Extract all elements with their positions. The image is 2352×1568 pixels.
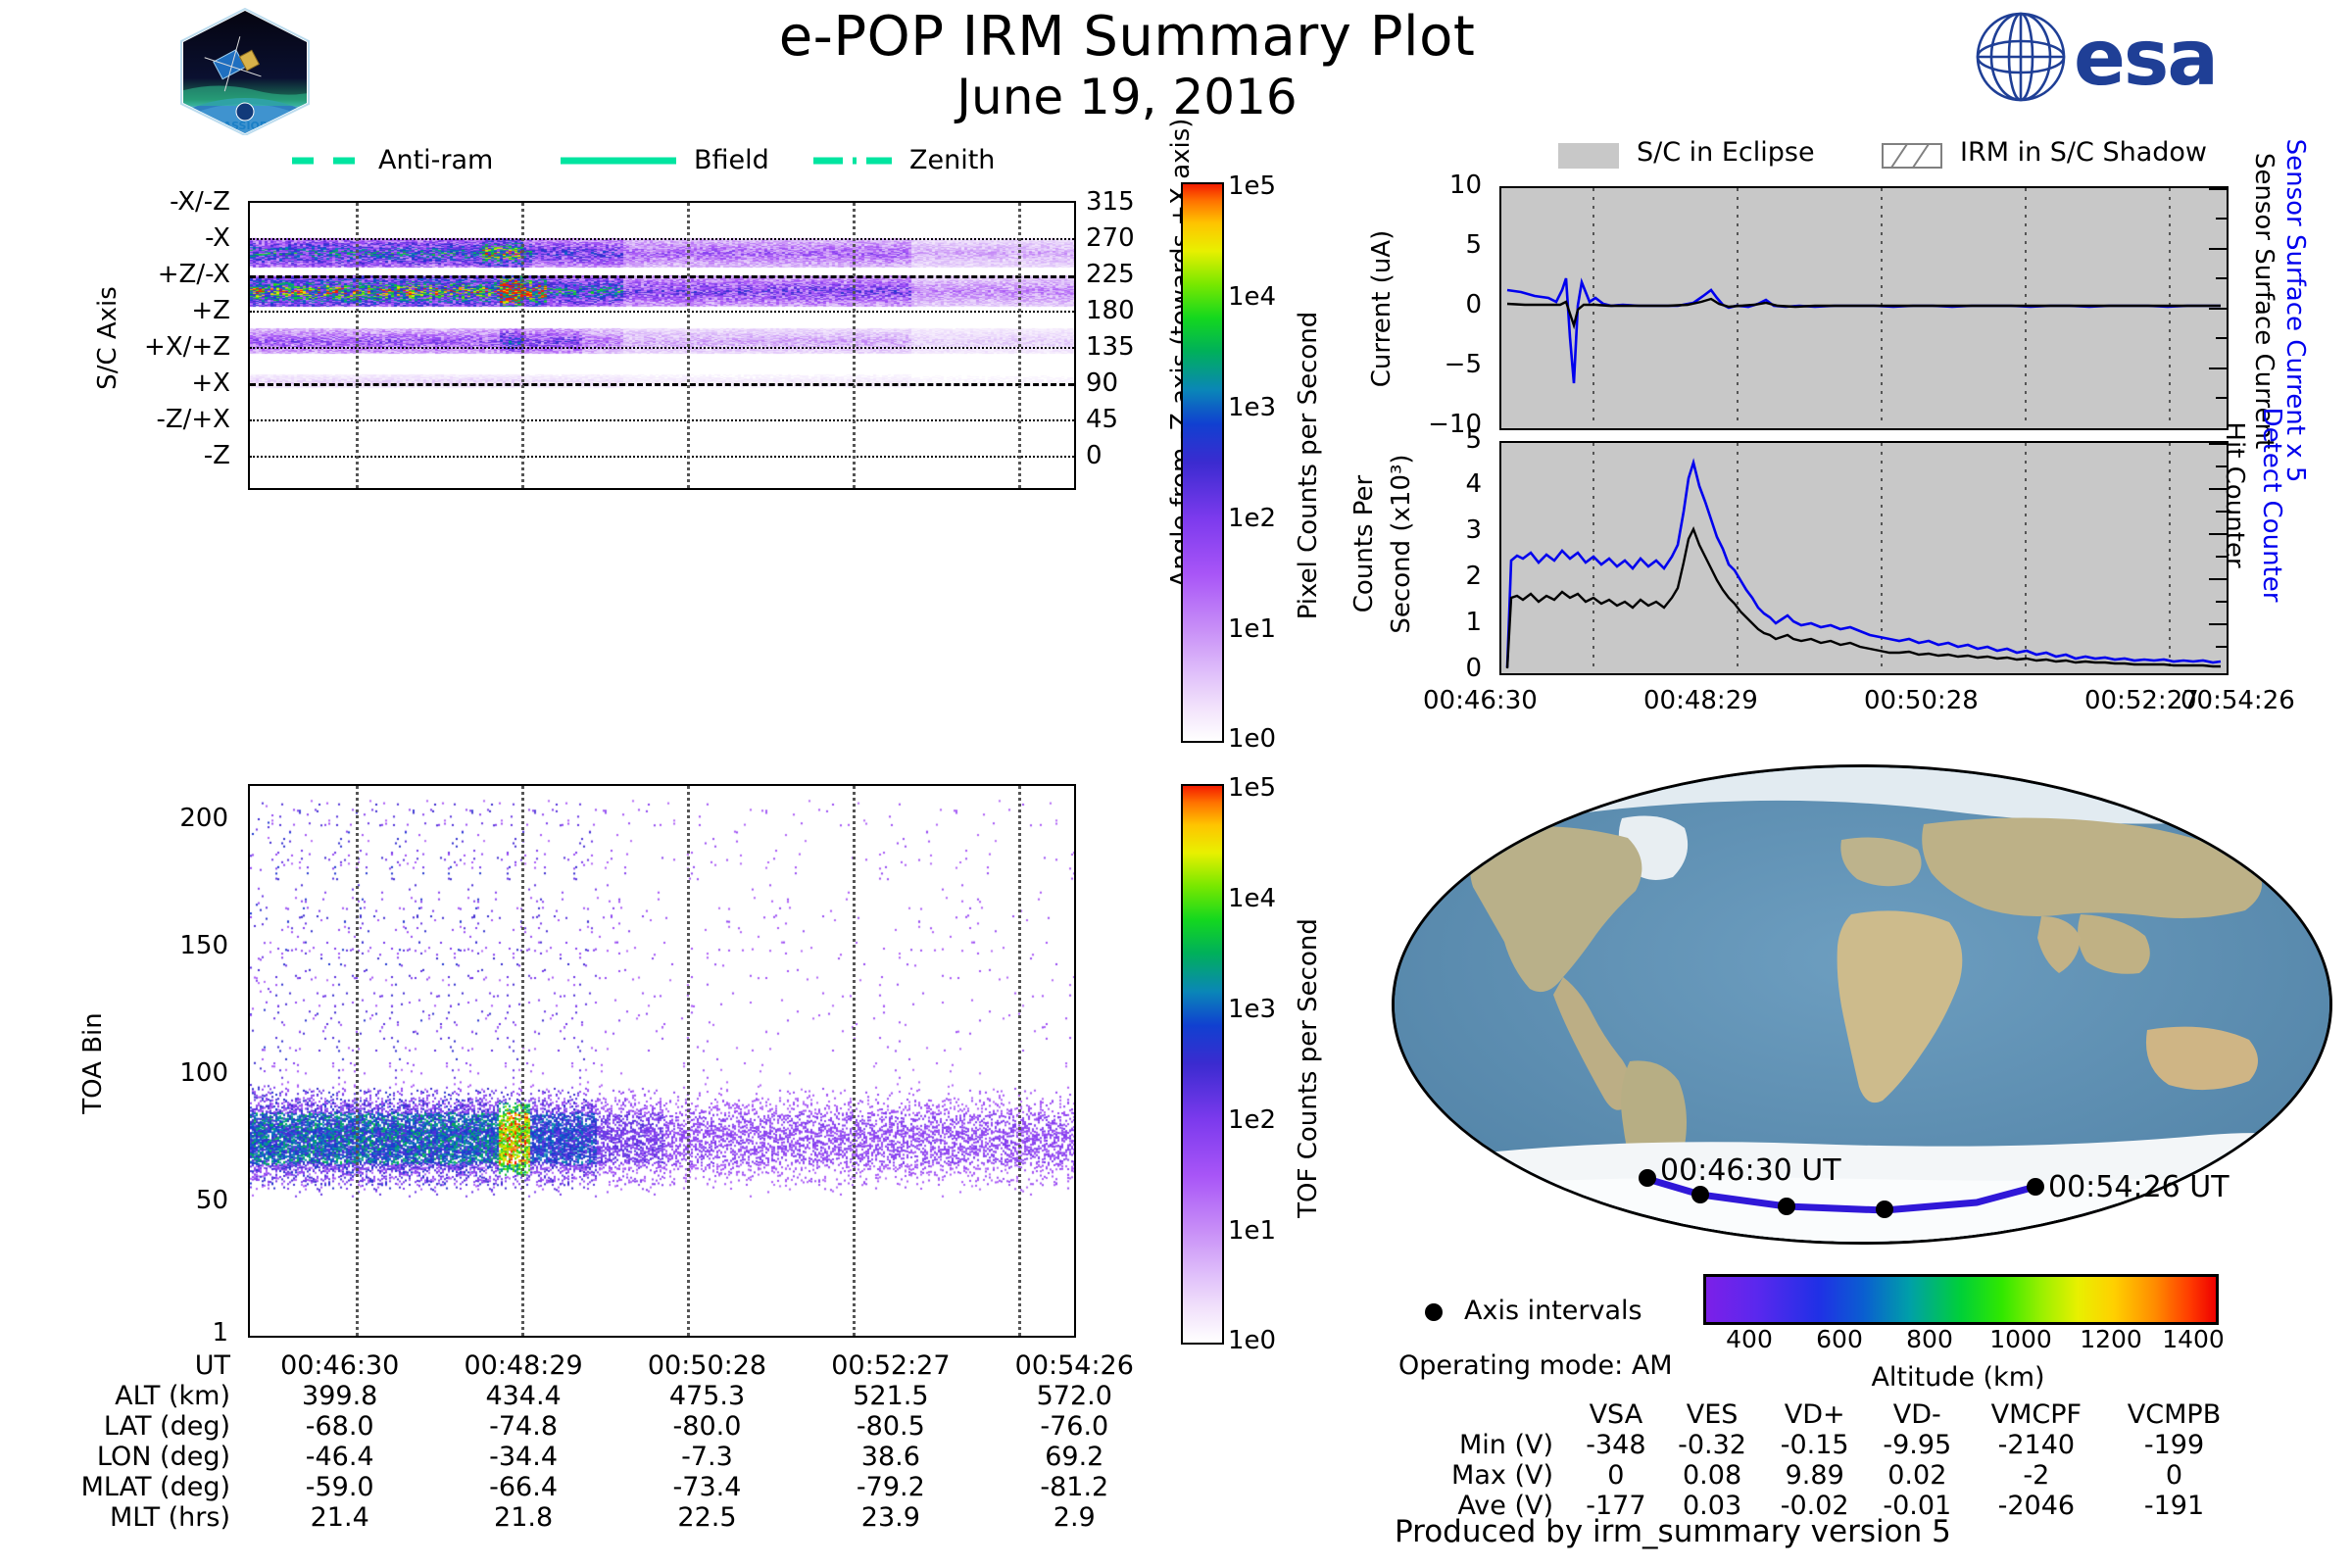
cell: 475.3 [615,1381,799,1411]
row-label: MLT (hrs) [44,1502,248,1533]
angle-ytick: 90 [1086,368,1118,398]
sc-axis-ytick: -Z/+X [156,405,230,434]
angle-ytick: 270 [1086,223,1135,253]
altitude-colorbar [1703,1274,2219,1325]
cell: -34.4 [431,1442,614,1472]
alt-tick: 800 [1906,1325,1953,1353]
alt-tick: 1200 [2080,1325,2142,1353]
table-row: Min (V) -348 -0.32 -0.15 -9.95 -2140 -19… [1392,1430,2244,1460]
cell: -2046 [1969,1491,2104,1521]
cell: 9.89 [1763,1460,1866,1491]
toa-ytick: 200 [179,804,228,833]
svg-text:esa: esa [2074,15,2217,103]
timeseries-legend: S/C in Eclipse IRM in S/C Shadow [1558,137,2323,176]
cell: -2 [1969,1460,2104,1491]
axis-intervals-legend: Axis intervals [1421,1296,1735,1335]
cell: 69.2 [983,1442,1166,1472]
xtick: 00:50:28 [1864,686,1979,715]
colorbar-tick: 1e3 [1228,393,1276,422]
cell: -199 [2104,1430,2244,1460]
cell: 00:48:29 [431,1350,614,1381]
tof-counts-colorbar-label: TOF Counts per Second [1294,813,1323,1323]
colorbar-tick: 1e2 [1228,1105,1276,1135]
cell: 22.5 [615,1502,799,1533]
cell: 00:50:28 [615,1350,799,1381]
spectrogram-legend: Anti-ram Bfield Zenith [284,145,990,180]
cell: -79.2 [799,1472,982,1502]
colorbar-tick: 1e5 [1228,773,1276,803]
current-ytick-labels: 10 5 0 −5 −10 [1401,186,1490,426]
sc-axis-spectrogram [248,201,1076,490]
cell: -59.0 [248,1472,431,1502]
tof-counts-colorbar: 1e5 1e4 1e3 1e2 1e1 1e0 [1181,784,1224,1345]
counts-xtick-labels: 00:46:30 00:48:29 00:50:28 00:52:27 00:5… [1401,686,2323,725]
table-row: UT 00:46:30 00:48:29 00:50:28 00:52:27 0… [44,1350,1166,1381]
angle-ytick: 135 [1086,332,1135,362]
altitude-colorbar-label: Altitude (km) [1703,1362,2213,1393]
column-header: VES [1661,1399,1764,1430]
pixel-counts-colorbar: 1e5 1e4 1e3 1e2 1e1 1e0 [1181,182,1224,743]
xtick: 00:46:30 [1423,686,1538,715]
cassiope-logo: CASSIOPE [176,8,314,135]
legend-label-bfield: Bfield [694,145,769,175]
table-row: MLT (hrs) 21.4 21.8 22.5 23.9 2.9 [44,1502,1166,1533]
sc-axis-ytick: +Z/-X [158,260,230,289]
sc-axis-ytick: +Z [191,296,230,325]
cell: 0 [1571,1460,1661,1491]
cell: -348 [1571,1430,1661,1460]
counts-ytick-labels: 5 4 3 2 1 0 [1411,441,1490,671]
row-label: LON (deg) [44,1442,248,1472]
cell: -0.32 [1661,1430,1764,1460]
angle-ytick: 225 [1086,260,1135,289]
counts-right-label-black: Hit Counter [2220,358,2249,632]
toa-ytick: 100 [179,1058,228,1088]
cell: 0 [2104,1460,2244,1491]
colorbar-tick: 1e5 [1228,171,1276,201]
toa-bin-spectrogram [248,784,1076,1338]
counts-ytick: 3 [1465,515,1482,545]
xtick: 00:54:26 [2180,686,2295,715]
current-ytick: −5 [1445,350,1482,379]
cell: -7.3 [615,1442,799,1472]
alt-tick: 400 [1726,1325,1773,1353]
alt-tick: 1000 [1989,1325,2052,1353]
cell: -9.95 [1866,1430,1969,1460]
cell: 0.08 [1661,1460,1764,1491]
cell: 2.9 [983,1502,1166,1533]
page-title: e-POP IRM Summary Plot [686,5,1568,69]
ground-track-map: 00:46:30 UT 00:54:26 UT [1392,764,2332,1245]
alt-tick: 1400 [2162,1325,2225,1353]
row-label: Max (V) [1392,1460,1571,1491]
toa-ytick: 50 [196,1186,228,1215]
row-label: Min (V) [1392,1430,1571,1460]
row-label: UT [44,1350,248,1381]
track-end-label: 00:54:26 UT [2048,1170,2229,1204]
eclipse-swatch [1558,143,1619,169]
toa-ytick: 1 [212,1318,228,1347]
cell: -68.0 [248,1411,431,1442]
cell: -46.4 [248,1442,431,1472]
table-row: LAT (deg) -68.0 -74.8 -80.0 -80.5 -76.0 [44,1411,1166,1442]
cell: -80.5 [799,1411,982,1442]
row-label: MLAT (deg) [44,1472,248,1502]
colorbar-tick: 1e3 [1228,995,1276,1024]
angle-ytick: 0 [1086,441,1102,470]
legend-label-antiram: Anti-ram [378,145,493,175]
cell: -66.4 [431,1472,614,1502]
cell: 521.5 [799,1381,982,1411]
altitude-colorbar-ticks: 400 600 800 1000 1200 1400 [1703,1325,2213,1358]
sensor-surface-current-plot [1499,186,2229,430]
cell: -2140 [1969,1430,2104,1460]
table-row: Max (V) 0 0.08 9.89 0.02 -2 0 [1392,1460,2244,1491]
esa-logo: esa [1970,8,2283,106]
footer-produced-by: Produced by irm_summary version 5 [1395,1514,1951,1549]
cell: 23.9 [799,1502,982,1533]
column-header: VSA [1571,1399,1661,1430]
colorbar-tick: 1e1 [1228,1216,1276,1246]
cell: -76.0 [983,1411,1166,1442]
row-label: LAT (deg) [44,1411,248,1442]
cell: -0.15 [1763,1430,1866,1460]
counts-ytick: 1 [1465,608,1482,637]
legend-label-zenith: Zenith [909,145,995,175]
counts-ytick: 4 [1465,469,1482,499]
cell: -191 [2104,1491,2244,1521]
row-label: ALT (km) [44,1381,248,1411]
track-start-label: 00:46:30 UT [1660,1153,1841,1188]
counts-per-second-plot [1499,441,2229,675]
page-subtitle-date: June 19, 2016 [686,69,1568,125]
colorbar-tick: 1e0 [1228,724,1276,754]
current-ytick: 10 [1449,171,1482,200]
cell: -81.2 [983,1472,1166,1502]
axis-intervals-label: Axis intervals [1464,1296,1642,1326]
shadow-swatch [1882,143,1942,169]
toa-ytick: 150 [179,931,228,960]
ephemeris-table: UT 00:46:30 00:48:29 00:50:28 00:52:27 0… [44,1350,1166,1533]
counts-right-label-blue: Detect Counter [2257,358,2286,652]
operating-mode: Operating mode: AM [1398,1350,1673,1381]
colorbar-tick: 1e0 [1228,1326,1276,1355]
cell: 434.4 [431,1381,614,1411]
cell: 572.0 [983,1381,1166,1411]
cell: -80.0 [615,1411,799,1442]
table-row: MLAT (deg) -59.0 -66.4 -73.4 -79.2 -81.2 [44,1472,1166,1502]
column-header: VD+ [1763,1399,1866,1430]
counts-ylabel-line1: Counts Per [1349,475,1379,612]
counts-ytick: 0 [1465,654,1482,683]
cell: -74.8 [431,1411,614,1442]
alt-tick: 600 [1816,1325,1863,1353]
cell: -73.4 [615,1472,799,1502]
cell: 0.02 [1866,1460,1969,1491]
sc-axis-ytick: -Z [204,441,230,470]
cell: 00:52:27 [799,1350,982,1381]
angle-ytick: 315 [1086,187,1135,217]
current-ytick: 5 [1465,230,1482,260]
cell: 21.8 [431,1502,614,1533]
column-header: VCMPB [2104,1399,2244,1430]
sc-axis-ytick: +X [191,368,230,398]
cell: 00:46:30 [248,1350,431,1381]
toa-ytick-labels: 200 150 100 50 1 [98,784,240,1338]
cell: 399.8 [248,1381,431,1411]
angle-ytick: 45 [1086,405,1118,434]
legend-label-shadow: IRM in S/C Shadow [1960,137,2207,168]
sc-axis-ytick: -X/-Z [170,187,230,217]
sc-axis-ytick-labels: -X/-Z -X +Z/-X +Z +X/+Z +X -Z/+X -Z [98,201,240,490]
table-row: LON (deg) -46.4 -34.4 -7.3 38.6 69.2 [44,1442,1166,1472]
sc-axis-ytick: +X/+Z [144,332,230,362]
colorbar-tick: 1e4 [1228,884,1276,913]
table-row: ALT (km) 399.8 434.4 475.3 521.5 572.0 [44,1381,1166,1411]
cell: 38.6 [799,1442,982,1472]
voltage-table: VSA VES VD+ VD- VMCPF VCMPB Min (V) -348… [1392,1399,2244,1521]
column-header: VMCPF [1969,1399,2104,1430]
table-header-row: VSA VES VD+ VD- VMCPF VCMPB [1392,1399,2244,1430]
counts-ytick: 5 [1465,425,1482,455]
angle-ytick: 180 [1086,296,1135,325]
current-ytick: 0 [1465,290,1482,319]
counts-ytick: 2 [1465,562,1482,591]
xtick: 00:48:29 [1643,686,1758,715]
legend-label-eclipse: S/C in Eclipse [1637,137,1815,168]
cell: 21.4 [248,1502,431,1533]
column-header: VD- [1866,1399,1969,1430]
cell: 00:54:26 [983,1350,1166,1381]
colorbar-tick: 1e4 [1228,282,1276,312]
sc-axis-ytick: -X [205,223,230,253]
